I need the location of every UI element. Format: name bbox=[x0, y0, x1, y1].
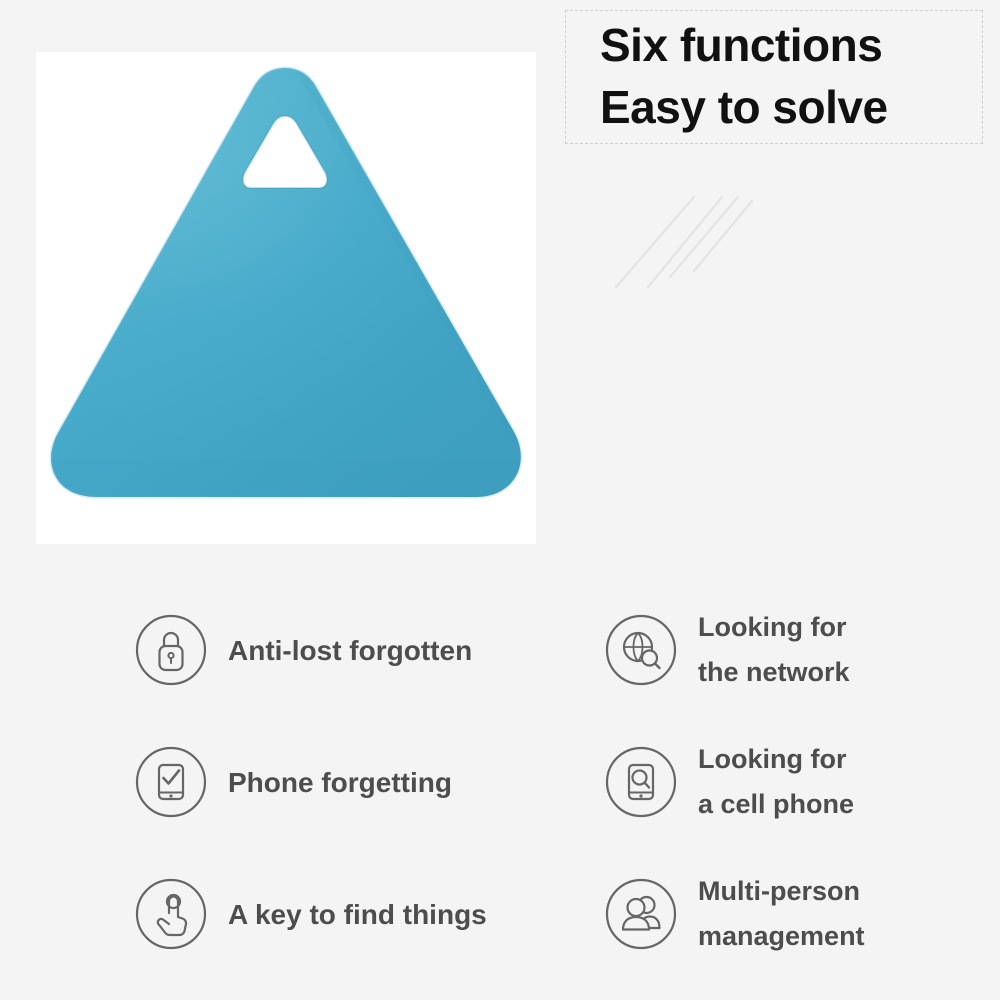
feature-label-anti-lost: Anti-lost forgotten bbox=[228, 628, 472, 673]
feature-label-line: a cell phone bbox=[698, 782, 854, 827]
headline-line-1: Six functions bbox=[600, 14, 1000, 76]
decor-line-1 bbox=[616, 197, 694, 287]
page-title: Six functions Easy to solve bbox=[600, 14, 1000, 138]
phone-check-icon bbox=[134, 745, 208, 819]
decorative-diagonal-lines bbox=[608, 175, 758, 295]
product-image-panel bbox=[36, 52, 536, 544]
product-photo bbox=[36, 52, 536, 544]
decor-line-3 bbox=[670, 197, 738, 277]
headline-line-2: Easy to solve bbox=[600, 76, 1000, 138]
feature-list: Anti-lost forgotten Phone forgetting bbox=[0, 596, 1000, 976]
feature-item-phone-forgetting[interactable]: Phone forgetting bbox=[134, 736, 574, 828]
decor-line-4 bbox=[694, 201, 752, 271]
globe-search-icon bbox=[604, 613, 678, 687]
feature-label-network-search: Looking for the network bbox=[698, 605, 850, 695]
feature-item-multi-person[interactable]: Multi-person management bbox=[604, 868, 1000, 960]
decor-line-2 bbox=[648, 197, 722, 287]
feature-label-line: Multi-person bbox=[698, 869, 865, 914]
feature-item-phone-search[interactable]: Looking for a cell phone bbox=[604, 736, 1000, 828]
tap-hand-icon bbox=[134, 877, 208, 951]
feature-item-network-search[interactable]: Looking for the network bbox=[604, 604, 1000, 696]
feature-label-multi-person: Multi-person management bbox=[698, 869, 865, 959]
padlock-icon bbox=[134, 613, 208, 687]
phone-search-icon bbox=[604, 745, 678, 819]
feature-item-find-things[interactable]: A key to find things bbox=[134, 868, 574, 960]
feature-label-find-things: A key to find things bbox=[228, 892, 487, 937]
feature-label-line: management bbox=[698, 914, 865, 959]
feature-label-line: Looking for bbox=[698, 737, 854, 782]
feature-item-anti-lost[interactable]: Anti-lost forgotten bbox=[134, 604, 574, 696]
feature-label-line: A key to find things bbox=[228, 892, 487, 937]
people-group-icon bbox=[604, 877, 678, 951]
feature-label-line: Looking for bbox=[698, 605, 850, 650]
infographic-page: Six functions Easy to solve bbox=[0, 0, 1000, 1000]
feature-label-phone-forgetting: Phone forgetting bbox=[228, 760, 452, 805]
feature-label-line: Phone forgetting bbox=[228, 760, 452, 805]
feature-label-phone-search: Looking for a cell phone bbox=[698, 737, 854, 827]
feature-label-line: Anti-lost forgotten bbox=[228, 628, 472, 673]
feature-label-line: the network bbox=[698, 650, 850, 695]
